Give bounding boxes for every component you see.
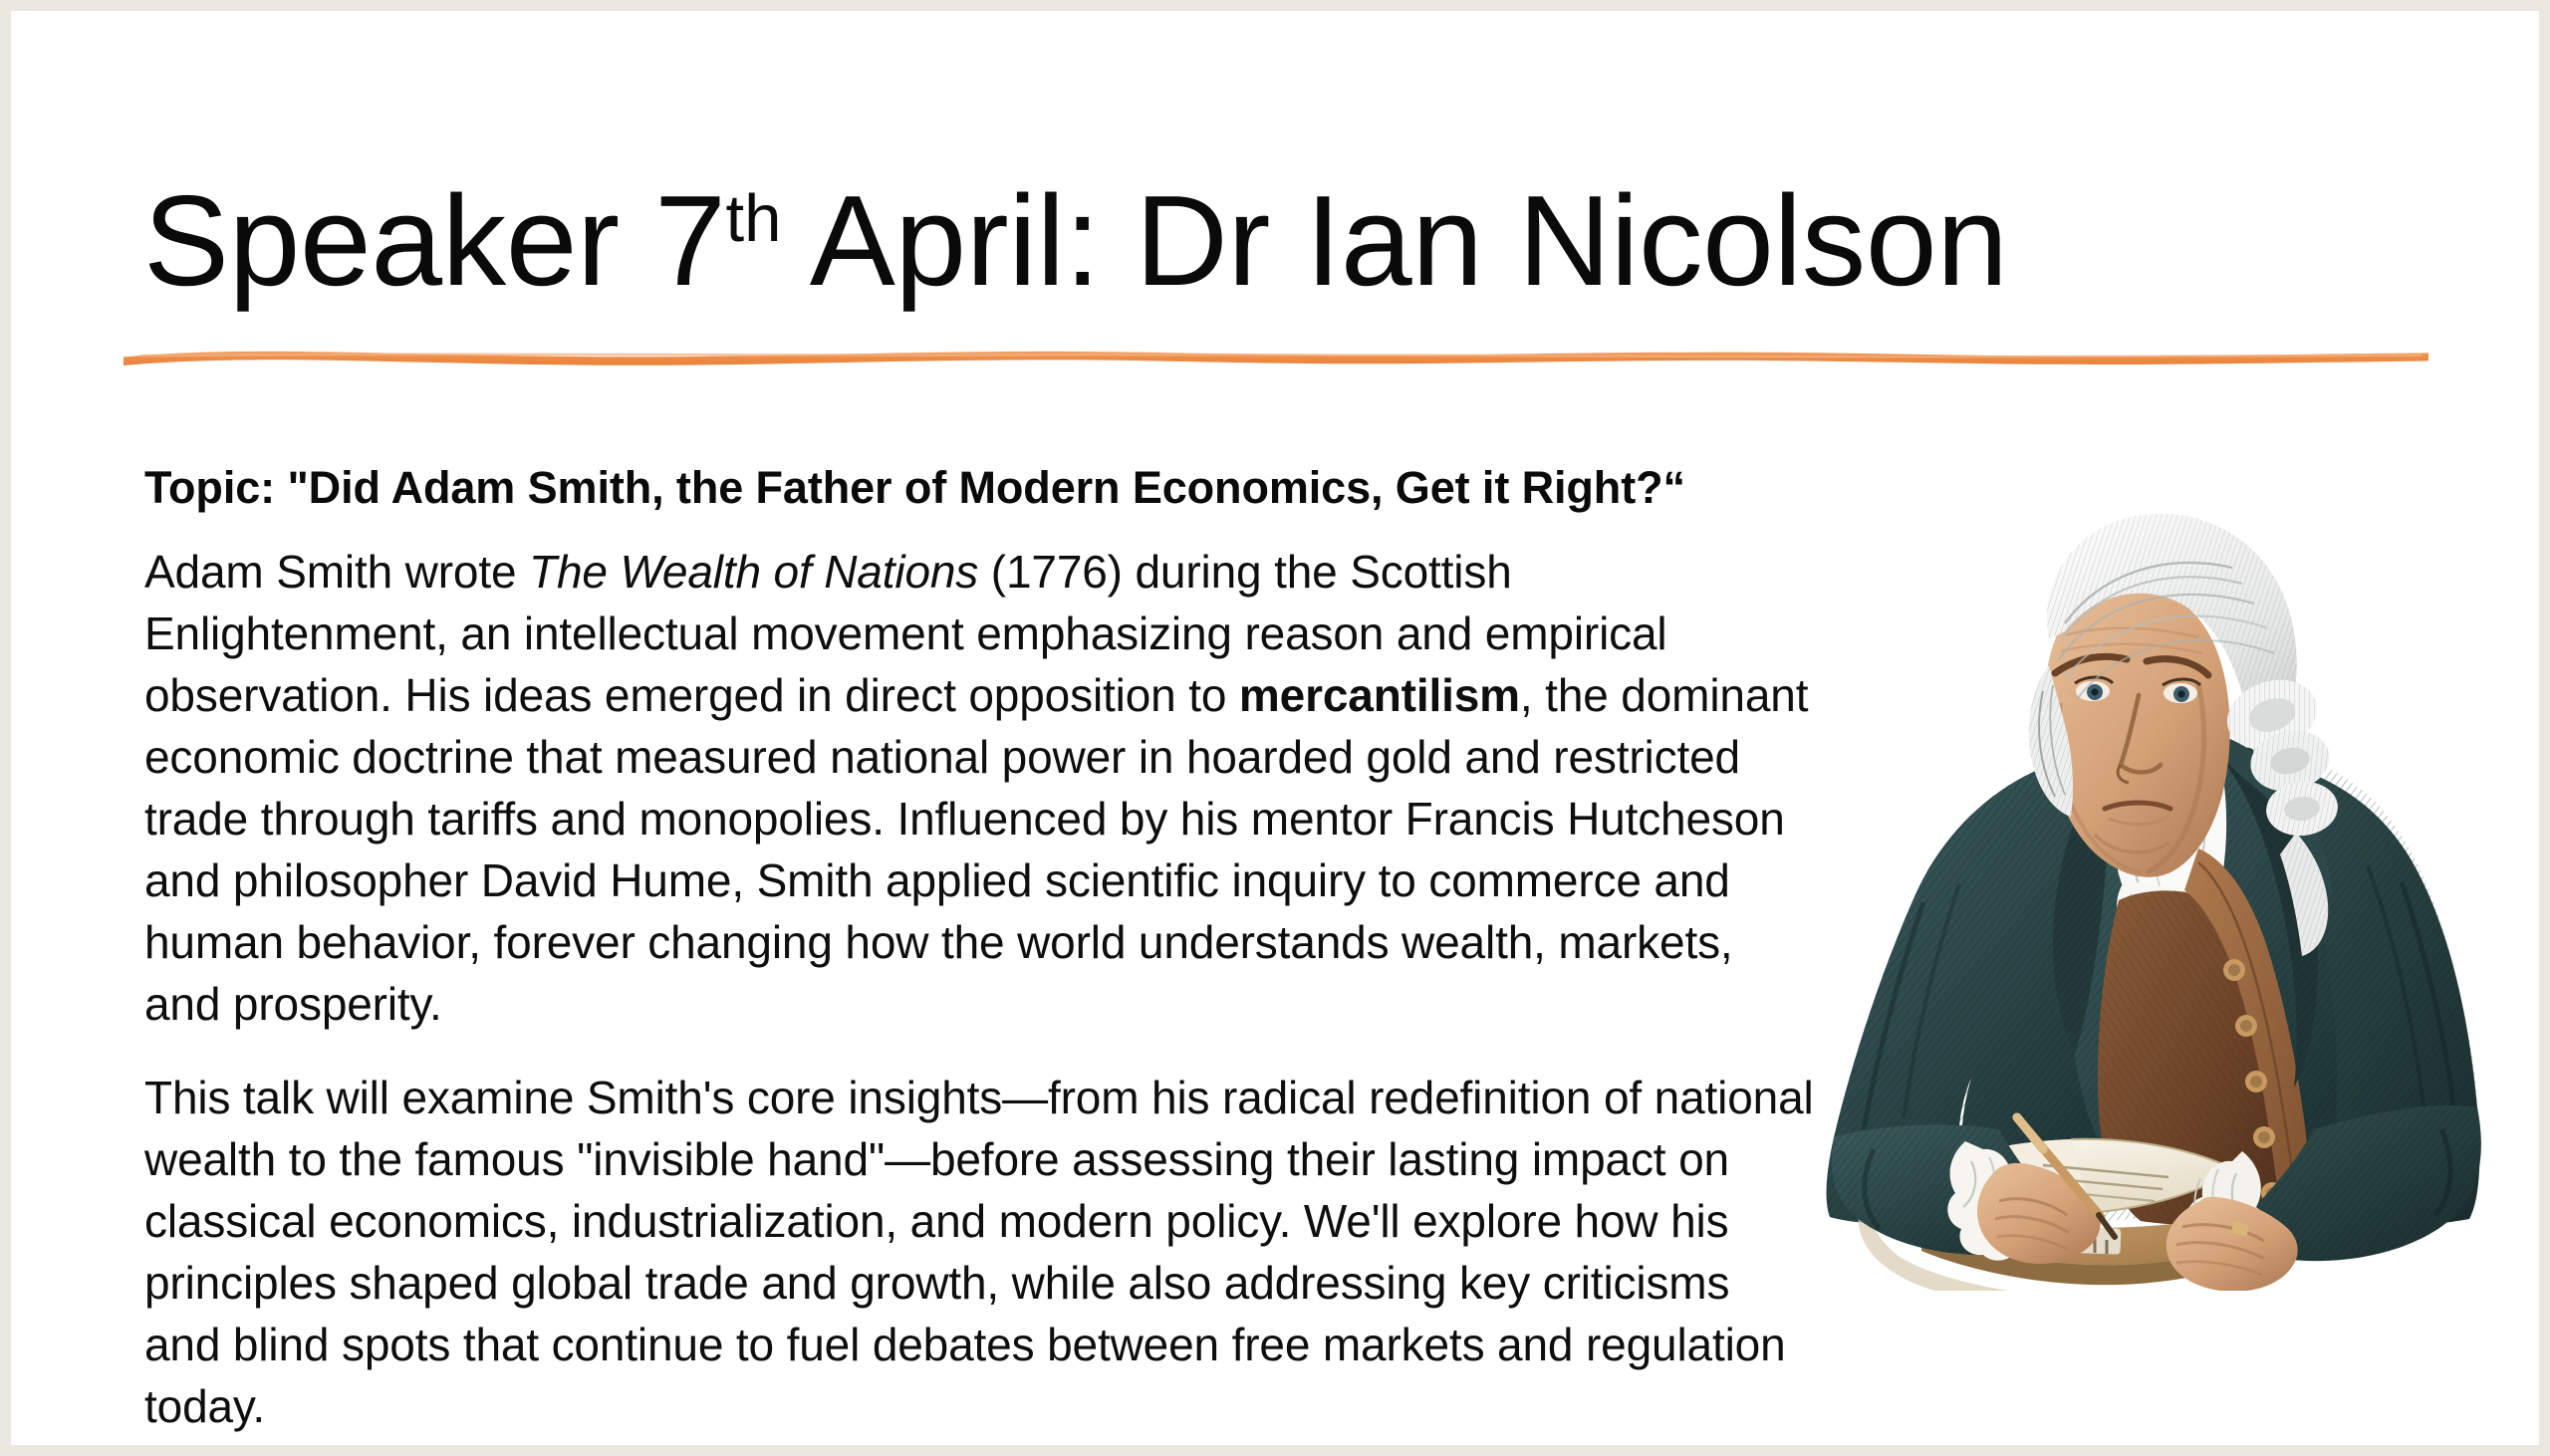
title-divider: [121, 340, 2431, 373]
body-paragraph-2: This talk will examine Smith's core insi…: [144, 1067, 1818, 1437]
divider-highlight-path: [140, 354, 2422, 359]
page-title-suffix: April: Dr Ian Nicolson: [781, 169, 2007, 313]
slide-frame: Speaker 7th April: Dr Ian Nicolson Topic…: [0, 0, 2550, 1456]
topic-line: Topic: "Did Adam Smith, the Father of Mo…: [144, 457, 1818, 519]
body-content: Topic: "Did Adam Smith, the Father of Mo…: [144, 457, 1818, 1437]
divider-stroke-path: [124, 352, 2428, 365]
para1-run-5: , the dominant economic doctrine that me…: [144, 669, 1808, 1030]
book-title-the-wealth-of-nations: The Wealth of Nations: [529, 546, 978, 598]
page-title: Speaker 7th April: Dr Ian Nicolson: [143, 172, 2395, 311]
slide-canvas: Speaker 7th April: Dr Ian Nicolson Topic…: [11, 11, 2539, 1445]
body-paragraph-1: Adam Smith wrote The Wealth of Nations (…: [144, 541, 1818, 1035]
page-title-prefix: Speaker 7: [143, 169, 725, 313]
adam-smith-portrait-image: [1804, 504, 2501, 1291]
page-title-ordinal-suffix: th: [725, 181, 781, 256]
keyword-mercantilism: mercantilism: [1239, 669, 1520, 721]
para1-run-1: Adam Smith wrote: [144, 546, 529, 598]
